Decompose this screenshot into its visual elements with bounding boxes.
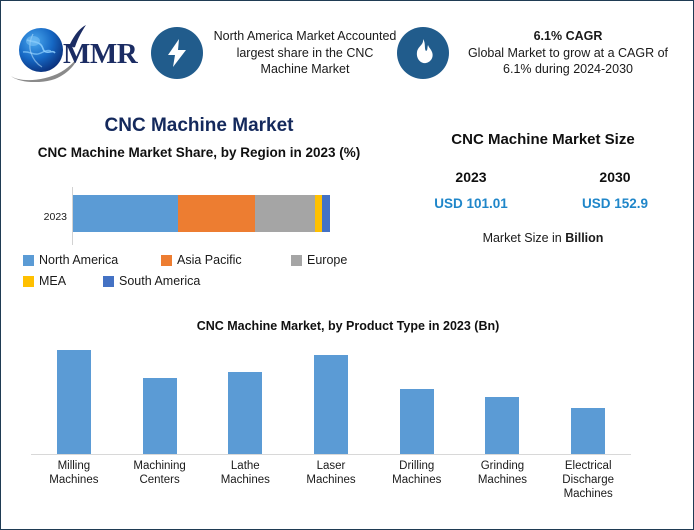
axis-label-line: Milling <box>31 459 117 473</box>
share-segment-mea <box>315 195 323 232</box>
share-chart-legend: North AmericaAsia PacificEurope MEASouth… <box>23 253 393 295</box>
header-highlight-1-text: North America Market Accounted largest s… <box>213 28 397 78</box>
legend-swatch <box>103 276 114 287</box>
bar-milling-machines <box>57 350 91 454</box>
bar-drilling-machines <box>400 389 434 454</box>
legend-label: North America <box>39 253 118 267</box>
market-size-footnote-prefix: Market Size in <box>483 231 566 245</box>
bar-slot <box>460 342 546 454</box>
axis-label-drilling-machines: DrillingMachines <box>374 459 460 501</box>
lightning-bolt-icon <box>164 38 190 68</box>
legend-label: Europe <box>307 253 347 267</box>
axis-label-line: Machines <box>460 473 546 487</box>
bar-slot <box>202 342 288 454</box>
bar-lathe-machines <box>228 372 262 454</box>
product-type-axis-labels: MillingMachinesMachiningCentersLatheMach… <box>19 459 677 501</box>
axis-label-lathe-machines: LatheMachines <box>202 459 288 501</box>
axis-label-line: Drilling <box>374 459 460 473</box>
share-chart-title: CNC Machine Market Share, by Region in 2… <box>19 144 379 162</box>
share-segment-south-america <box>322 195 330 232</box>
axis-label-machining-centers: MachiningCenters <box>117 459 203 501</box>
legend-item-south-america[interactable]: South America <box>103 274 303 288</box>
legend-swatch <box>23 276 34 287</box>
legend-item-north-america[interactable]: North America <box>23 253 161 267</box>
brand-logo: MMR <box>1 1 151 105</box>
market-size-footnote: Market Size in Billion <box>399 231 687 245</box>
bar-slot <box>374 342 460 454</box>
market-size-column-2023: 2023 USD 101.01 <box>406 169 536 211</box>
axis-label-right-pad <box>631 459 677 501</box>
bar-laser-machines <box>314 355 348 454</box>
axis-label-laser-machines: LaserMachines <box>288 459 374 501</box>
bar-slot <box>545 342 631 454</box>
header-highlight-2: 6.1% CAGR Global Market to grow at a CAG… <box>397 27 677 79</box>
legend-row: MEASouth America <box>23 274 393 288</box>
market-size-columns: 2023 USD 101.01 2030 USD 152.9 <box>399 169 687 211</box>
bar-slot <box>31 342 117 454</box>
bar-grinding-machines <box>485 397 519 454</box>
share-chart: 2023 <box>19 187 379 249</box>
market-size-year: 2023 <box>406 169 536 185</box>
legend-label: Asia Pacific <box>177 253 242 267</box>
axis-label-left-pad <box>19 459 31 501</box>
market-size-value: USD 101.01 <box>406 196 536 211</box>
legend-swatch <box>291 255 302 266</box>
bar-machining-centers <box>143 378 177 454</box>
product-type-baseline <box>31 454 631 455</box>
header: MMR North America Market Accounted large… <box>1 1 694 105</box>
market-size-title: CNC Machine Market Size <box>399 131 687 148</box>
header-highlight-2-text: 6.1% CAGR Global Market to grow at a CAG… <box>459 28 677 78</box>
market-size-footnote-unit: Billion <box>565 231 603 245</box>
legend-label: South America <box>119 274 200 288</box>
flame-icon <box>411 38 435 68</box>
market-size-value: USD 152.9 <box>550 196 680 211</box>
share-segment-asia-pacific <box>178 195 255 232</box>
cagr-heading: 6.1% CAGR <box>459 28 677 45</box>
flame-badge <box>397 27 449 79</box>
share-stacked-bar <box>73 195 330 232</box>
product-type-chart <box>19 337 677 455</box>
axis-label-line: Lathe <box>202 459 288 473</box>
legend-item-asia-pacific[interactable]: Asia Pacific <box>161 253 291 267</box>
bar-slot <box>288 342 374 454</box>
share-segment-north-america <box>73 195 178 232</box>
market-size-panel: CNC Machine Market Size 2023 USD 101.01 … <box>399 131 687 245</box>
product-type-chart-title: CNC Machine Market, by Product Type in 2… <box>1 319 694 333</box>
axis-label-line: Centers <box>117 473 203 487</box>
axis-label-grinding-machines: GrindingMachines <box>460 459 546 501</box>
legend-item-europe[interactable]: Europe <box>291 253 391 267</box>
axis-label-electrical-discharge-machines: ElectricalDischargeMachines <box>545 459 631 501</box>
brand-name: MMR <box>63 40 137 69</box>
bar-electrical-discharge-machines <box>571 408 605 454</box>
cagr-description: Global Market to grow at a CAGR of 6.1% … <box>468 46 668 77</box>
share-segment-europe <box>255 195 314 232</box>
header-highlight-1: North America Market Accounted largest s… <box>151 27 397 79</box>
share-chart-tick-label: 2023 <box>19 211 67 223</box>
axis-label-line: Machines <box>202 473 288 487</box>
legend-item-mea[interactable]: MEA <box>23 274 103 288</box>
legend-swatch <box>23 255 34 266</box>
axis-label-line: Discharge <box>545 473 631 487</box>
axis-label-line: Machines <box>288 473 374 487</box>
product-type-bars <box>31 342 631 454</box>
axis-label-line: Machines <box>31 473 117 487</box>
legend-label: MEA <box>39 274 66 288</box>
globe-icon <box>15 26 67 78</box>
axis-label-line: Laser <box>288 459 374 473</box>
axis-label-line: Grinding <box>460 459 546 473</box>
legend-row: North AmericaAsia PacificEurope <box>23 253 393 267</box>
market-size-year: 2030 <box>550 169 680 185</box>
legend-swatch <box>161 255 172 266</box>
axis-label-line: Machining <box>117 459 203 473</box>
bar-slot <box>117 342 203 454</box>
axis-label-line: Machines <box>374 473 460 487</box>
axis-label-line: Electrical <box>545 459 631 473</box>
axis-label-milling-machines: MillingMachines <box>31 459 117 501</box>
infographic-root: MMR North America Market Accounted large… <box>0 0 694 530</box>
page-title: CNC Machine Market <box>19 115 379 137</box>
lightning-bolt-badge <box>151 27 203 79</box>
market-size-column-2030: 2030 USD 152.9 <box>550 169 680 211</box>
axis-label-line: Machines <box>545 487 631 501</box>
